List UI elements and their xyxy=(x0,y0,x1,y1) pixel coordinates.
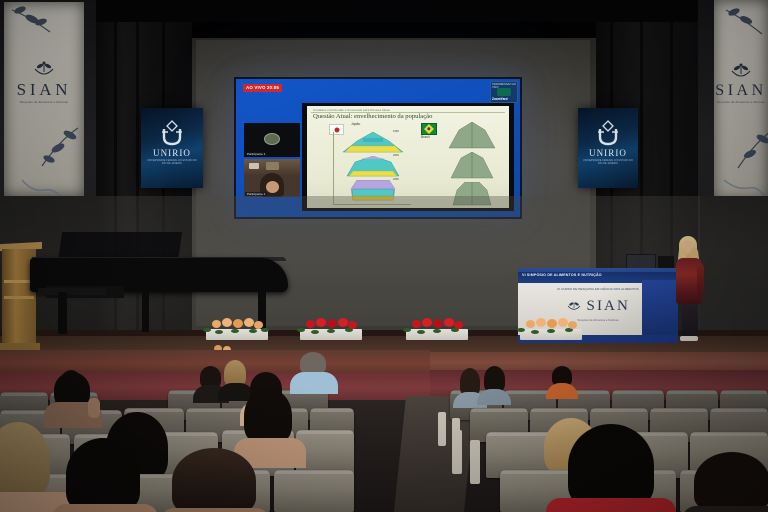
slide-title: Questão Atual: envelhecimento da populaç… xyxy=(313,113,432,120)
brazil-flag-icon xyxy=(421,123,437,135)
unirio-banner-right: UNIRIO UNIVERSIDADE FEDERAL DO ESTADO DO… xyxy=(578,108,638,188)
piano-keys xyxy=(38,288,106,295)
platform-mark-icon xyxy=(497,88,511,96)
piano-leg-mid xyxy=(142,292,149,332)
participant-tile-camera-off[interactable]: Participante 1 xyxy=(244,123,300,157)
pyramid-japan-2000 xyxy=(337,156,409,179)
unirio-wordmark-left: UNIRIO xyxy=(141,148,203,158)
laptop-screen xyxy=(627,255,655,268)
year-label-3: 2050 xyxy=(393,178,399,181)
brazil-label: Brasil xyxy=(421,135,429,139)
flower-planter-3 xyxy=(406,318,468,340)
head-table-side-panel xyxy=(642,280,678,340)
japan-label: Japão xyxy=(351,122,360,126)
year-label-1: 1950 xyxy=(393,130,399,133)
speaker-shoes xyxy=(680,336,698,341)
seat[interactable] xyxy=(274,470,354,512)
unirio-wordmark-right: UNIRIO xyxy=(578,148,638,158)
live-badge: AO VIVO 20:06 xyxy=(243,84,282,92)
sian-subtitle-right: Simposio de Alimentos e Nutricao xyxy=(714,100,768,104)
cloth-leaf-icon xyxy=(566,300,582,312)
armrest xyxy=(470,440,480,484)
unirio-u-icon-right xyxy=(596,120,620,146)
year-label-2: 2000 xyxy=(393,154,399,157)
speaker-arm xyxy=(697,264,704,296)
armrest xyxy=(438,412,446,446)
sian-leaf-icon-right xyxy=(730,62,752,80)
speaker-legs xyxy=(682,300,698,340)
unirio-subtitle-left: UNIVERSIDADE FEDERAL DO ESTADO DO RIO DE… xyxy=(141,159,203,166)
participant-tile-camera-on[interactable]: Participante 2 xyxy=(244,159,300,197)
lectern-shelf-lower xyxy=(4,296,34,299)
pyramid-brazil-1950 xyxy=(443,122,501,149)
platform-logo-name: ZoomYard xyxy=(492,97,508,101)
cloth-wordmark: SIAN xyxy=(587,298,630,314)
sian-wordmark-left: SIAN xyxy=(4,80,84,100)
pyramid-brazil-2000 xyxy=(443,152,501,179)
sian-banner-right: SIAN Simposio de Alimentos e Nutricao xyxy=(714,0,768,200)
unirio-u-icon xyxy=(160,120,184,146)
flower-planter-2 xyxy=(300,318,362,340)
sian-wordmark-right: SIAN xyxy=(714,82,768,100)
sian-subtitle-left: Simposio de Alimentos e Nutricao xyxy=(4,100,84,104)
armrest xyxy=(452,430,462,474)
flower-planter-4 xyxy=(520,318,582,340)
sian-banner-left: SIAN Simposio de Alimentos e Nutricao xyxy=(4,2,84,196)
unirio-banner-left: UNIRIO UNIVERSIDADE FEDERAL DO ESTADO DO… xyxy=(141,108,203,188)
sian-leaf-icon xyxy=(33,60,55,78)
piano-leg-front xyxy=(58,292,67,334)
participant-name-1: Participante 1 xyxy=(245,152,267,156)
banner-chain-right xyxy=(724,178,764,198)
platform-logo: TRANSMISSAO AO VIVO ZoomYard xyxy=(490,81,518,103)
pyramid-japan-1950 xyxy=(337,132,409,155)
avatar xyxy=(264,133,280,145)
unirio-subtitle-right: UNIVERSIDADE FEDERAL DO ESTADO DO RIO DE… xyxy=(578,159,638,166)
auditorium-scene: SIAN Simposio de Alimentos e Nutricao xyxy=(0,0,768,512)
flower-planter-1 xyxy=(206,318,268,340)
presentation-slide: Cuidados nutricionais e funcionais para … xyxy=(307,106,509,208)
head-table-banner-text: VI SIMPÓSIO DE ALIMENTOS E NUTRIÇÃO xyxy=(522,273,672,277)
